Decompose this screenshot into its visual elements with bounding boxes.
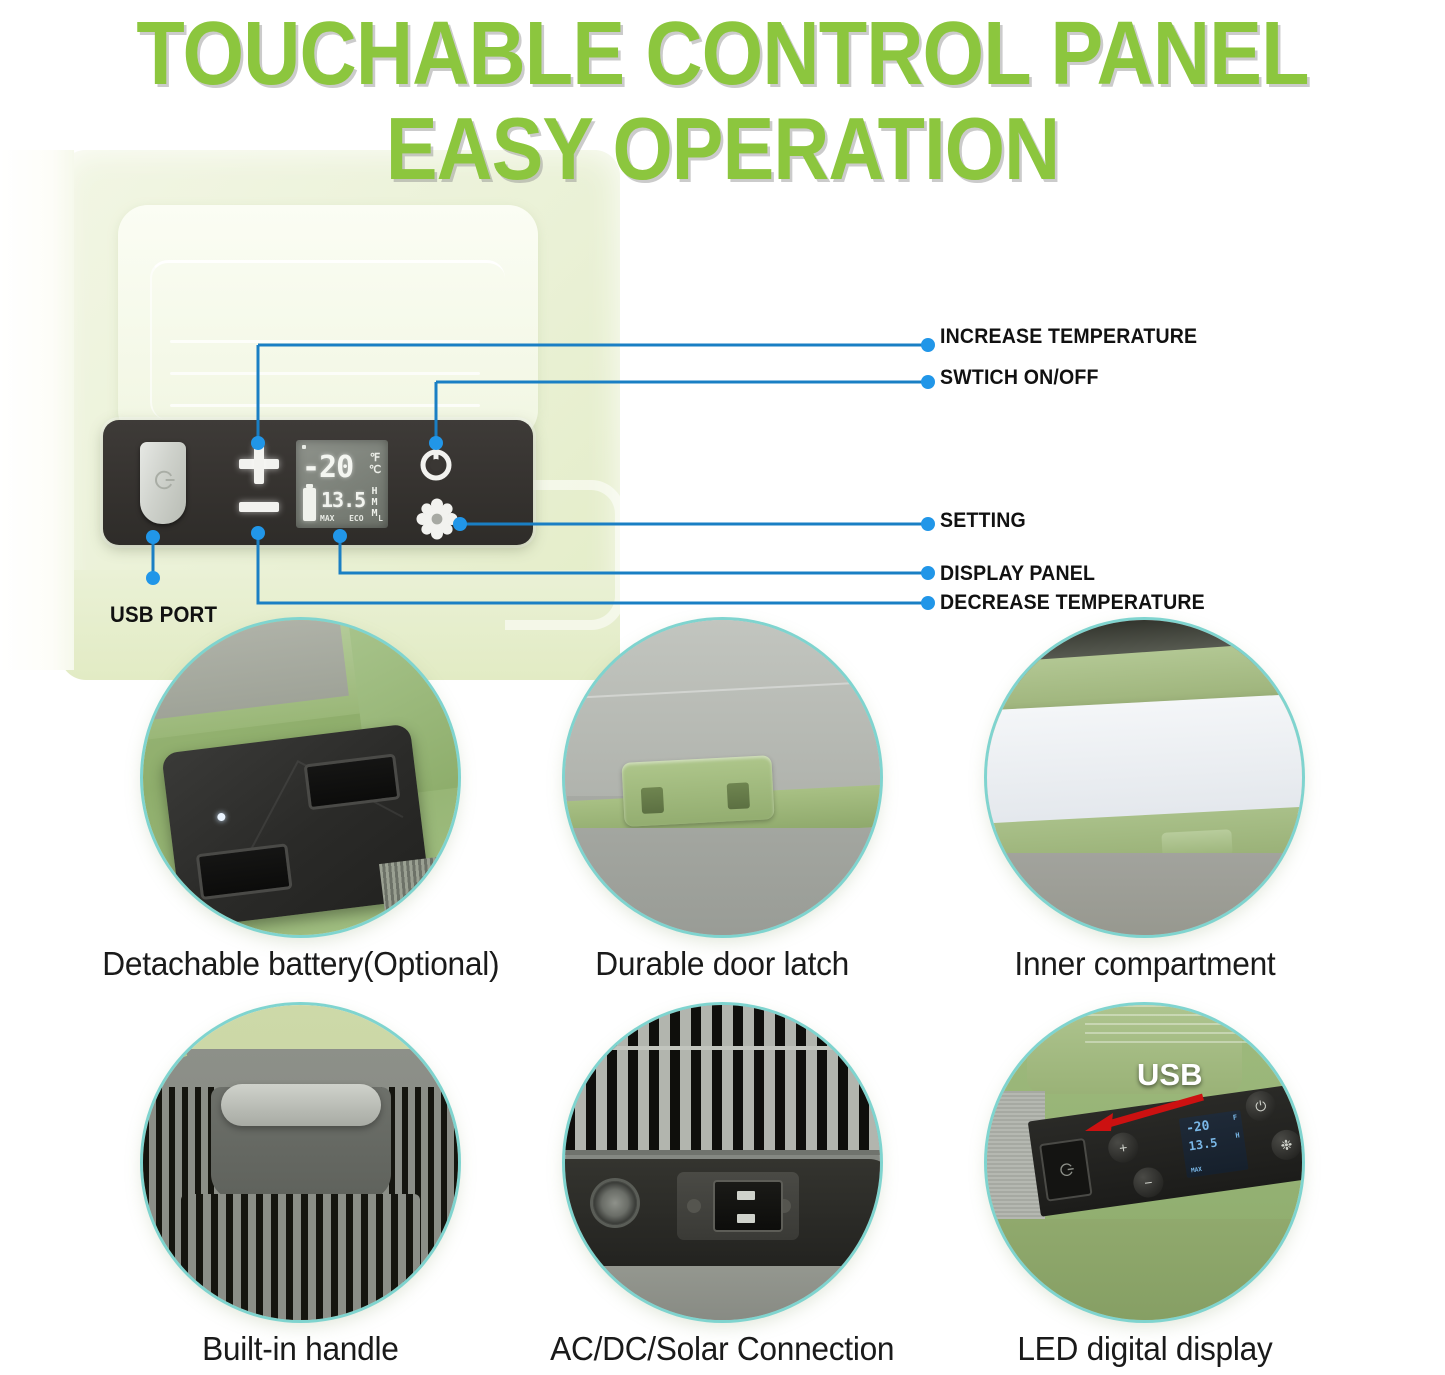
feature-caption: LED digital display: [1017, 1330, 1272, 1368]
lcd-mode-max: MAX: [320, 514, 334, 523]
headline-line-2: EASY OPERATION: [87, 102, 1359, 196]
ghost-lid-inner: [150, 260, 505, 420]
callout-display-panel: DISPLAY PANEL: [940, 562, 1095, 586]
feature-item-led-display: ⏻ + − ⏻ ❉ -20 F 13.5 H MAX USB: [987, 1005, 1302, 1368]
ghost-lid: [118, 205, 538, 440]
ghost-body: [60, 150, 620, 670]
display-panel: -20 ℉ ℃ 13.5 H M M MAX ECO L: [296, 440, 388, 528]
battery-icon: [303, 488, 316, 521]
decrease-temperature-button[interactable]: [239, 502, 279, 512]
usb-port[interactable]: ⏻: [140, 442, 186, 524]
feature-caption: Inner compartment: [1014, 945, 1275, 983]
red-arrow-icon: [1079, 1093, 1209, 1135]
ghost-detail-line: [170, 340, 480, 343]
feature-item-door-latch: Durable door latch: [565, 620, 880, 983]
feature-item-detachable-battery: Detachable battery(Optional): [143, 620, 458, 983]
lcd-temperature-value: -20: [302, 453, 353, 483]
built-in-handle-photo: [143, 1005, 458, 1320]
increase-temperature-button[interactable]: [239, 444, 279, 484]
usb-icon: ⏻: [1055, 1162, 1077, 1178]
callout-setting: SETTING: [940, 509, 1026, 533]
inner-compartment-photo: [987, 620, 1302, 935]
lcd-hm-h: H: [367, 486, 382, 497]
ghost-left-edge: [0, 150, 74, 670]
ghost-detail-line: [170, 372, 480, 375]
feature-item-ac-dc-connection: AC/DC/Solar Connection: [565, 1005, 880, 1368]
lcd-hm-m1: M: [367, 497, 382, 508]
feature-row-bottom: Built-in handle AC/DC/Solar Connection: [0, 1005, 1445, 1368]
feature-caption: Detachable battery(Optional): [102, 945, 499, 983]
feature-item-inner-compartment: Inner compartment: [987, 620, 1302, 983]
lcd-indicator-dot: [302, 445, 306, 449]
feature-caption: AC/DC/Solar Connection: [550, 1330, 894, 1368]
usb-annotation-label: USB: [1137, 1057, 1202, 1093]
callout-switch-on-off: SWTICH ON/OFF: [940, 366, 1099, 390]
lcd-unit-celsius: ℃: [367, 464, 383, 476]
callout-decrease-temperature: DECREASE TEMPERATURE: [940, 591, 1205, 615]
power-button[interactable]: [416, 444, 456, 484]
control-panel: ⏻ -20 ℉ ℃ 13.5 H M M MAX ECO L: [103, 420, 533, 545]
door-latch-photo: [565, 620, 880, 935]
headline-line-1: TOUCHABLE CONTROL PANEL: [87, 0, 1359, 102]
lcd-mode-row: MAX ECO L: [320, 514, 383, 523]
setting-button[interactable]: [416, 498, 458, 540]
led-display-photo: ⏻ + − ⏻ ❉ -20 F 13.5 H MAX USB: [987, 1005, 1302, 1320]
ghost-detail-line: [170, 404, 480, 407]
headline: TOUCHABLE CONTROL PANEL EASY OPERATION: [0, 0, 1445, 196]
ac-dc-connection-photo: [565, 1005, 880, 1320]
lcd-voltage-value: 13.5: [321, 490, 365, 510]
lcd-mode-l: L: [378, 514, 383, 523]
callout-increase-temperature: INCREASE TEMPERATURE: [940, 325, 1197, 349]
usb-icon: ⏻: [151, 470, 176, 490]
callout-usb-port: USB PORT: [110, 602, 217, 628]
feature-row-top: Detachable battery(Optional) Durable doo…: [0, 620, 1445, 983]
feature-item-built-in-handle: Built-in handle: [143, 1005, 458, 1368]
feature-grid: Detachable battery(Optional) Durable doo…: [0, 620, 1445, 1368]
lcd-unit-column: ℉ ℃: [367, 452, 383, 476]
feature-caption: Built-in handle: [202, 1330, 398, 1368]
feature-caption: Durable door latch: [596, 945, 850, 983]
battery-module-photo: [143, 620, 458, 935]
lcd-mode-eco: ECO: [349, 514, 363, 523]
